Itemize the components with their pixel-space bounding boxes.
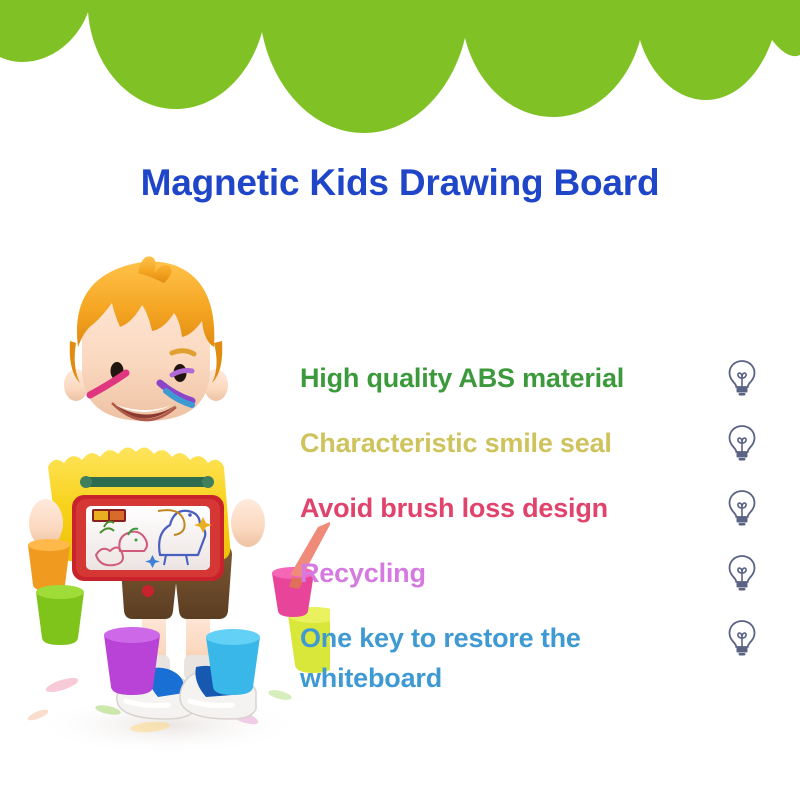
lightbulb-icon [725, 618, 759, 658]
lightbulb-icon [725, 553, 759, 593]
scallop-shape [0, 0, 800, 133]
drawing-board [39, 447, 255, 597]
header-banner [0, 0, 800, 135]
feature-row-1: High quality ABS material [300, 358, 780, 423]
feature-label-4: Recycling [300, 553, 426, 593]
feature-label-2: Characteristic smile seal [300, 423, 612, 463]
lightbulb-icon [725, 488, 759, 528]
paint-pot-purple [104, 627, 160, 695]
head [64, 256, 228, 421]
lightbulb-icon [725, 358, 759, 398]
stylus-pen [80, 476, 214, 488]
feature-list: High quality ABS material Characteristic… [300, 358, 780, 683]
feature-row-3: Avoid brush loss design [300, 488, 780, 553]
paint-pot-orange [28, 539, 70, 591]
eraser-knob [142, 585, 154, 597]
paint-pot-cyan [206, 629, 260, 695]
feature-row-5: One key to restore the whiteboard [300, 618, 780, 683]
feature-label-1: High quality ABS material [300, 358, 624, 398]
feature-row-2: Characteristic smile seal [300, 423, 780, 488]
feature-label-3: Avoid brush loss design [300, 488, 608, 528]
page-title: Magnetic Kids Drawing Board [0, 162, 800, 204]
feature-row-4: Recycling [300, 553, 780, 618]
lightbulb-icon [725, 423, 759, 463]
paint-pot-green [36, 585, 84, 645]
product-illustration [0, 255, 330, 800]
feature-label-5: One key to restore the whiteboard [300, 618, 581, 698]
